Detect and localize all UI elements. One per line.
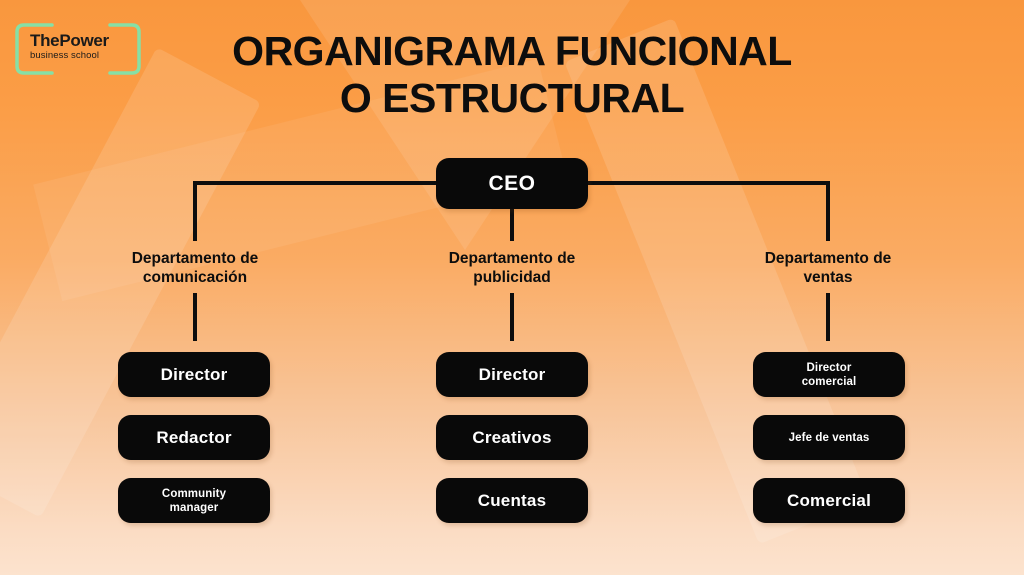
node-ceo-label: CEO <box>488 172 535 196</box>
dept-header-comunicacion: Departamento de comunicación <box>70 249 320 287</box>
dept-header-publicidad: Departamento de publicidad <box>387 249 637 287</box>
dept-header-publicidad-line-2: publicidad <box>473 269 551 286</box>
page-title-line-1: ORGANIGRAMA FUNCIONAL <box>0 28 1024 75</box>
node-role-comunicacion-2-line-1: Community <box>162 488 226 500</box>
node-ceo[interactable]: CEO <box>436 158 588 209</box>
node-role-comunicacion-0[interactable]: Director <box>118 352 270 397</box>
node-role-ventas-2-label: Comercial <box>781 491 877 510</box>
page-title: ORGANIGRAMA FUNCIONAL O ESTRUCTURAL <box>0 28 1024 122</box>
node-role-publicidad-1-label: Creativos <box>466 428 557 447</box>
node-role-ventas-1[interactable]: Jefe de ventas <box>753 415 905 460</box>
connector-dept-2-to-role <box>826 293 830 341</box>
dept-header-ventas-line-2: ventas <box>803 269 852 286</box>
node-role-ventas-1-label: Jefe de ventas <box>783 431 876 445</box>
connector-dept-0-to-role <box>193 293 197 341</box>
dept-header-comunicacion-line-1: Departamento de <box>132 250 259 267</box>
dept-header-ventas: Departamento de ventas <box>703 249 953 287</box>
node-role-comunicacion-2-label: Communitymanager <box>156 487 232 515</box>
page-title-line-2: O ESTRUCTURAL <box>0 75 1024 122</box>
node-role-ventas-0-line-1: Director <box>807 362 852 374</box>
dept-header-publicidad-line-1: Departamento de <box>449 250 576 267</box>
node-role-comunicacion-2[interactable]: Communitymanager <box>118 478 270 523</box>
node-role-publicidad-2[interactable]: Cuentas <box>436 478 588 523</box>
node-role-publicidad-1[interactable]: Creativos <box>436 415 588 460</box>
connector-ceo-to-dept-2 <box>826 181 830 241</box>
connector-dept-1-to-role <box>510 293 514 341</box>
node-role-ventas-2[interactable]: Comercial <box>753 478 905 523</box>
connector-ceo-to-dept-0 <box>193 181 197 241</box>
node-role-publicidad-0[interactable]: Director <box>436 352 588 397</box>
node-role-publicidad-2-label: Cuentas <box>472 491 552 510</box>
dept-header-ventas-line-1: Departamento de <box>765 250 892 267</box>
node-role-ventas-0-label: Directorcomercial <box>796 361 863 389</box>
node-role-comunicacion-0-label: Director <box>155 365 234 384</box>
dept-header-comunicacion-line-2: comunicación <box>143 269 247 286</box>
node-role-ventas-0[interactable]: Directorcomercial <box>753 352 905 397</box>
node-role-ventas-0-line-2: comercial <box>802 376 857 388</box>
organigrama-slide: ThePower business school ORGANIGRAMA FUN… <box>0 0 1024 575</box>
node-role-publicidad-0-label: Director <box>473 365 552 384</box>
node-role-comunicacion-2-line-2: manager <box>170 502 219 514</box>
node-role-comunicacion-1-label: Redactor <box>150 428 237 447</box>
node-role-comunicacion-1[interactable]: Redactor <box>118 415 270 460</box>
